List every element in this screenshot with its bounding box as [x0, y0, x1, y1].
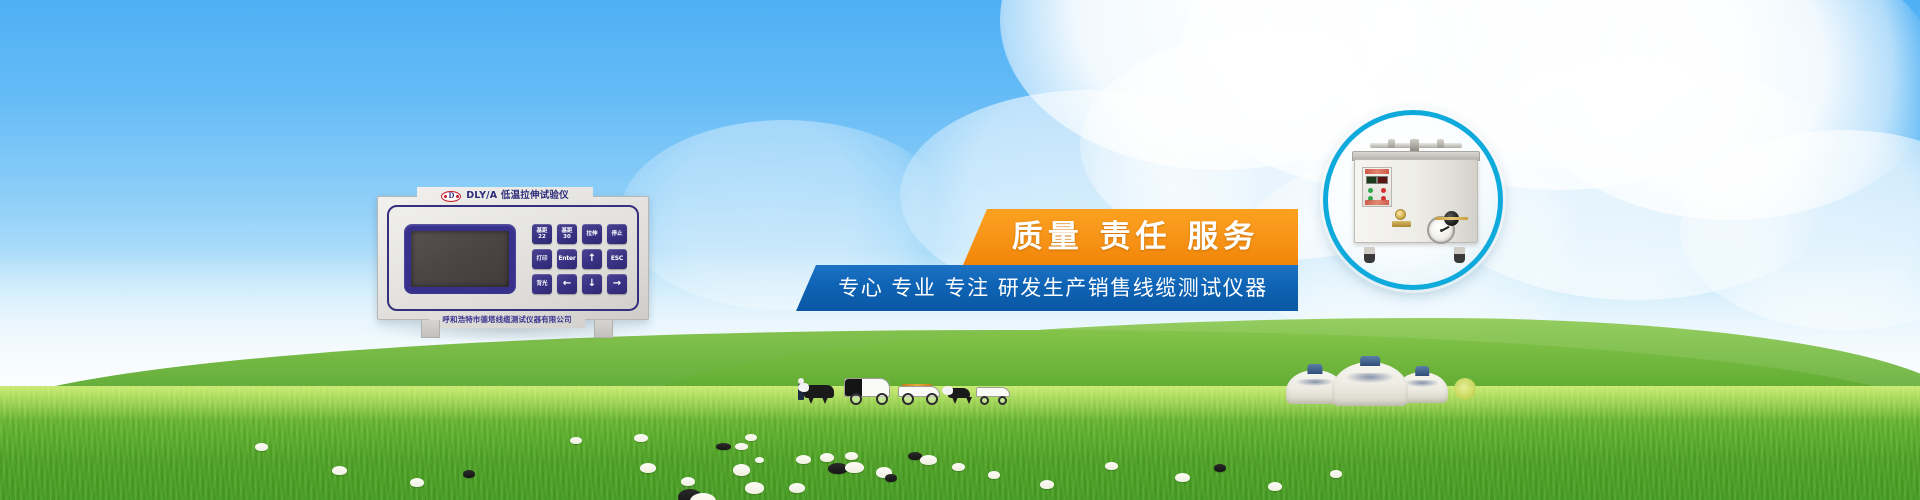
- sheep-icon: [1105, 462, 1118, 470]
- company-logo-icon: D: [441, 191, 461, 202]
- sheep-icon: [332, 466, 347, 475]
- sheep-icon: [920, 455, 937, 465]
- promotional-banner: D DLY/A 低温拉伸试验仪 基距 22 基距 30 拉伸 停止 打印 Ent…: [0, 0, 1920, 500]
- sheep-icon: [640, 463, 656, 473]
- sheep-icon: [255, 443, 268, 451]
- lcd-screen[interactable]: [411, 231, 509, 287]
- sheep-icon: [755, 457, 764, 463]
- yurt-icon: [1332, 362, 1408, 406]
- lcd-bezel: [404, 224, 516, 294]
- yurt-cluster: [1276, 350, 1454, 406]
- sheep-icon: [796, 455, 811, 464]
- quality-seal-icon: [1395, 209, 1406, 220]
- product-photo-circle[interactable]: [1323, 110, 1503, 290]
- key-esc[interactable]: ESC: [607, 249, 627, 269]
- secondary-slogan-banner: 专心 专业 专注 研发生产销售线缆测试仪器: [796, 265, 1298, 311]
- sheep-icon: [952, 463, 965, 471]
- logo-letter: D: [449, 192, 454, 200]
- status-led-red: [1381, 188, 1386, 193]
- primary-slogan-banner: 质量 责任 服务: [963, 209, 1298, 265]
- sheep-icon: [1214, 464, 1226, 472]
- status-led-green: [1368, 188, 1373, 193]
- sheep-icon: [745, 434, 757, 441]
- cart-wheel-icon: [998, 396, 1007, 405]
- sheep-icon: [845, 462, 864, 473]
- chamber-control-panel: [1362, 167, 1392, 207]
- chamber-lid-knob: [1410, 139, 1419, 151]
- sheep-icon: [1330, 470, 1342, 478]
- sheep-icon: [1268, 482, 1282, 491]
- key-arrow-up[interactable]: ↑: [582, 249, 602, 269]
- key-print[interactable]: 打印: [532, 249, 552, 269]
- caster-wheel-icon: [1454, 247, 1465, 263]
- cart-wheel-icon: [850, 393, 862, 405]
- key-jiju-30[interactable]: 基距 30: [557, 224, 577, 244]
- caster-wheel-icon: [1364, 247, 1375, 263]
- ox-cart-caravan: [790, 356, 1040, 404]
- key-tensile[interactable]: 拉伸: [582, 224, 602, 244]
- sheep-icon: [410, 478, 424, 487]
- key-enter[interactable]: Enter: [557, 249, 577, 269]
- sheep-icon: [463, 470, 475, 478]
- sheep-icon: [885, 474, 897, 482]
- cart-icon: [976, 387, 1010, 397]
- instrument-model-title: DLY/A 低温拉伸试验仪: [466, 191, 569, 201]
- key-label-line2: 30: [563, 234, 571, 240]
- primary-slogan-text: 质量 责任 服务: [1002, 222, 1260, 253]
- key-jiju-22[interactable]: 基距 22: [532, 224, 552, 244]
- sheep-icon: [733, 464, 750, 476]
- ox-icon: [804, 385, 834, 398]
- cart-wheel-icon: [902, 393, 914, 405]
- sheep-icon: [789, 483, 805, 493]
- key-stop[interactable]: 停止: [607, 224, 627, 244]
- sheep-icon: [634, 434, 648, 442]
- tensile-tester-instrument: D DLY/A 低温拉伸试验仪 基距 22 基距 30 拉伸 停止 打印 Ent…: [377, 196, 649, 320]
- control-panel-footer-strip: [1365, 200, 1389, 205]
- sheep-icon: [745, 482, 764, 494]
- sheep-icon: [820, 453, 834, 462]
- instrument-foot: [594, 320, 613, 338]
- key-backlight[interactable]: 背光: [532, 274, 552, 294]
- sheep-icon: [1175, 473, 1190, 482]
- sheep-icon: [570, 437, 582, 444]
- bush-icon: [1454, 378, 1476, 400]
- key-arrow-down[interactable]: ↓: [582, 274, 602, 294]
- instrument-keypad: 基距 22 基距 30 拉伸 停止 打印 Enter ↑ ESC 背光 ← ↓ …: [532, 224, 627, 294]
- instrument-foot: [421, 320, 440, 338]
- cloud-icon: [1680, 130, 1920, 330]
- cart-wheel-icon: [980, 396, 989, 405]
- key-arrow-left[interactable]: ←: [557, 274, 577, 294]
- control-panel-brand-strip: [1365, 169, 1389, 174]
- cloud-icon: [1520, 0, 1920, 220]
- key-label-line2: 22: [538, 234, 546, 240]
- sheep-icon: [988, 471, 1000, 479]
- ox-icon: [948, 388, 970, 398]
- sheep-icon: [845, 452, 858, 460]
- setpoint-display: [1377, 176, 1388, 184]
- sheep-icon: [681, 477, 695, 486]
- cart-wheel-icon: [926, 393, 938, 405]
- cart-wheel-icon: [876, 393, 888, 405]
- sheep-icon: [1040, 480, 1054, 489]
- secondary-slogan-text: 专心 专业 专注 研发生产销售线缆测试仪器: [826, 278, 1268, 299]
- temperature-display: [1366, 176, 1377, 184]
- instrument-title-area: D DLY/A 低温拉伸试验仪: [417, 187, 593, 205]
- key-arrow-right[interactable]: →: [607, 274, 627, 294]
- sheep-icon: [735, 443, 748, 450]
- instrument-feet: [377, 320, 649, 342]
- valve-handle-icon: [1444, 211, 1459, 226]
- sheep-icon: [716, 443, 731, 450]
